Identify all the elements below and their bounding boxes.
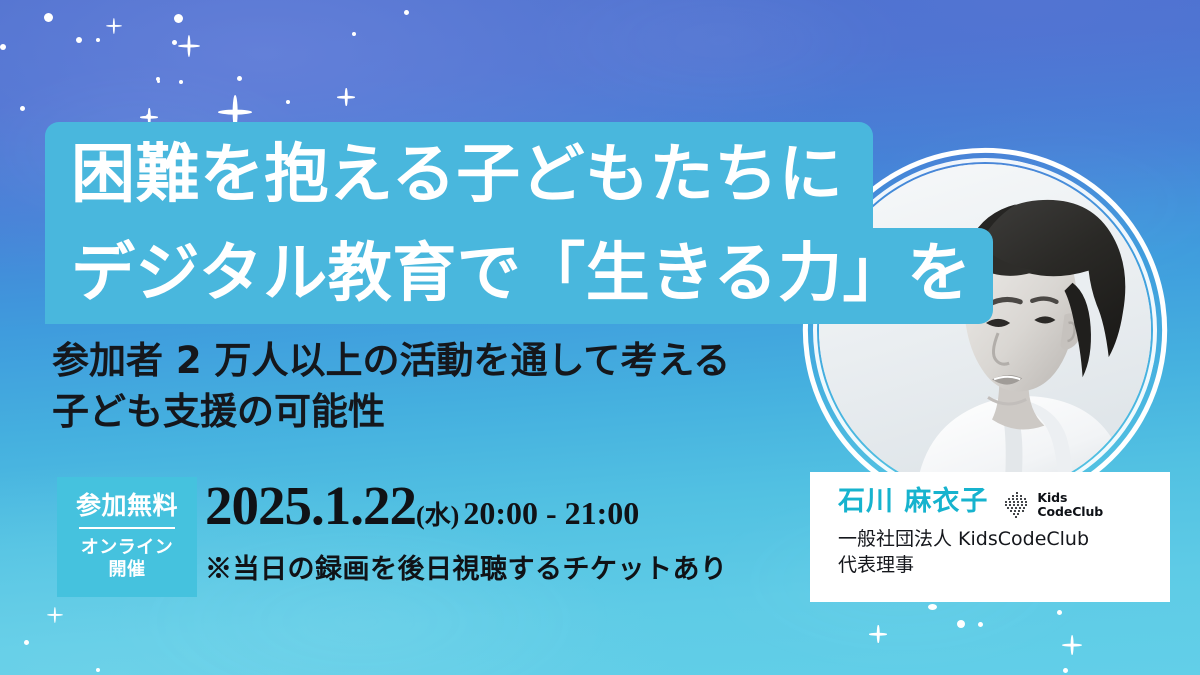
star-dot (404, 10, 409, 15)
badge-divider (79, 527, 175, 529)
star-dot (179, 80, 183, 84)
speaker-org-line-1: 一般社団法人 KidsCodeClub (838, 527, 1170, 553)
sparkle-icon (337, 88, 355, 106)
star-dot (352, 32, 356, 36)
star-dot (237, 76, 242, 81)
logo-text-line-2: CodeClub (1037, 505, 1103, 519)
subtitle-line-1: 参加者 2 万人以上の活動を通して考える (52, 335, 842, 386)
event-time: 20:00 - 21:00 (463, 495, 639, 531)
sparkle-icon (47, 607, 63, 623)
event-date: 2025.1.22 (205, 475, 416, 536)
star-dot (44, 13, 53, 22)
star-dot (0, 44, 6, 50)
star-dot (96, 668, 100, 672)
subtitle: 参加者 2 万人以上の活動を通して考える 子ども支援の可能性 (52, 335, 842, 437)
star-dot (96, 38, 100, 42)
kidscodeclub-logo: Kids CodeClub (1002, 490, 1103, 520)
speaker-org-line-2: 代表理事 (838, 553, 1170, 579)
star-dot (928, 604, 937, 610)
speaker-info-card: 石川 麻衣子 Kids (810, 472, 1170, 602)
star-dot (1057, 610, 1062, 615)
free-participation-badge: 参加無料 オンライン 開催 (57, 477, 197, 597)
webinar-poster: 困難を抱える子どもたちに デジタル教育で「生きる力」を 参加者 2 万人以上の活… (0, 0, 1200, 675)
badge-main-label: 参加無料 (76, 493, 178, 518)
star-dot (978, 622, 983, 627)
star-dot (174, 14, 183, 23)
event-day-of-week: (水) (416, 501, 459, 530)
badge-sub-line-2: 開催 (81, 559, 174, 582)
speaker-organization: 一般社団法人 KidsCodeClub 代表理事 (838, 527, 1170, 578)
sparkle-icon (178, 35, 200, 57)
event-datetime: 2025.1.22(水)20:00 - 21:00 (205, 478, 728, 533)
sparkle-icon (1062, 635, 1082, 655)
badge-sub-line-1: オンライン (81, 537, 174, 560)
star-dot (172, 40, 177, 45)
subtitle-line-2: 子ども支援の可能性 (52, 386, 842, 437)
logo-text-line-1: Kids (1037, 491, 1103, 505)
star-dot (20, 106, 25, 111)
star-dot (76, 37, 82, 43)
event-datetime-block: 2025.1.22(水)20:00 - 21:00 ※当日の録画を後日視聴するチ… (205, 478, 728, 586)
star-dot (1063, 668, 1068, 673)
title-line-1: 困難を抱える子どもたちに (45, 122, 873, 228)
sparkle-icon (106, 18, 122, 34)
star-dot (157, 80, 160, 83)
event-notice: ※当日の録画を後日視聴するチケットあり (205, 547, 728, 586)
speaker-name: 石川 麻衣子 (838, 488, 988, 516)
logo-dot-diamond-icon (1002, 490, 1032, 520)
sparkle-icon (869, 625, 887, 643)
star-dot (286, 100, 290, 104)
star-dot (957, 620, 965, 628)
star-dot (24, 640, 29, 645)
title-line-2: デジタル教育で「生きる力」を (45, 228, 993, 324)
